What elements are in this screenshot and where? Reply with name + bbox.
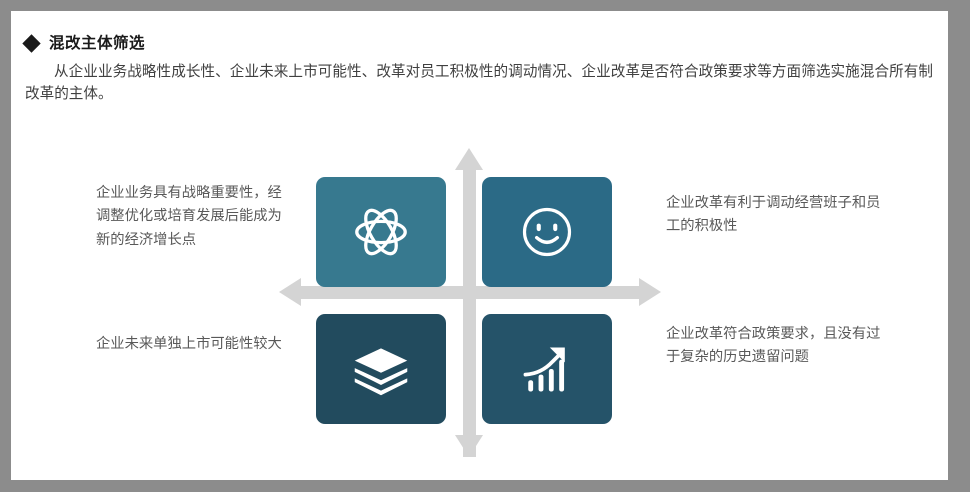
axis-arrow-down-icon [455,435,483,457]
layers-stack-icon [351,339,411,399]
quadrant-label-bottom-right: 企业改革符合政策要求，且没有过于复杂的历史遗留问题 [666,323,881,370]
growth-chart-icon [517,339,577,399]
quadrant-tile-top-left[interactable] [316,177,446,287]
diamond-bullet-icon [22,35,40,53]
header-body-paragraph: 从企业业务战略性成长性、企业未来上市可能性、改革对员工积极性的调动情况、企业改革… [25,61,933,105]
quadrant-label-bottom-left: 企业未来单独上市可能性较大 [96,333,296,356]
vertical-axis-line [463,169,476,457]
quadrant-matrix-diagram: 企业业务具有战略重要性，经调整优化或培育发展后能成为新的经济增长点 企业改革有利… [11,129,948,479]
horizontal-axis-line [301,286,639,299]
axis-arrow-left-icon [279,278,301,306]
atom-icon [350,201,412,263]
quadrant-tile-bottom-left[interactable] [316,314,446,424]
slide-canvas: 混改主体筛选 从企业业务战略性成长性、企业未来上市可能性、改革对员工积极性的调动… [11,11,948,480]
quadrant-label-top-left: 企业业务具有战略重要性，经调整优化或培育发展后能成为新的经济增长点 [96,182,296,252]
quadrant-tile-bottom-right[interactable] [482,314,612,424]
axis-arrow-up-icon [455,148,483,170]
slide-header: 混改主体筛选 从企业业务战略性成长性、企业未来上市可能性、改革对员工积极性的调动… [25,36,935,105]
title-row: 混改主体筛选 [25,36,935,52]
page-title: 混改主体筛选 [49,36,145,52]
smiley-face-icon [517,202,577,262]
axis-arrow-right-icon [639,278,661,306]
quadrant-tile-top-right[interactable] [482,177,612,287]
quadrant-label-top-right: 企业改革有利于调动经营班子和员工的积极性 [666,192,881,239]
